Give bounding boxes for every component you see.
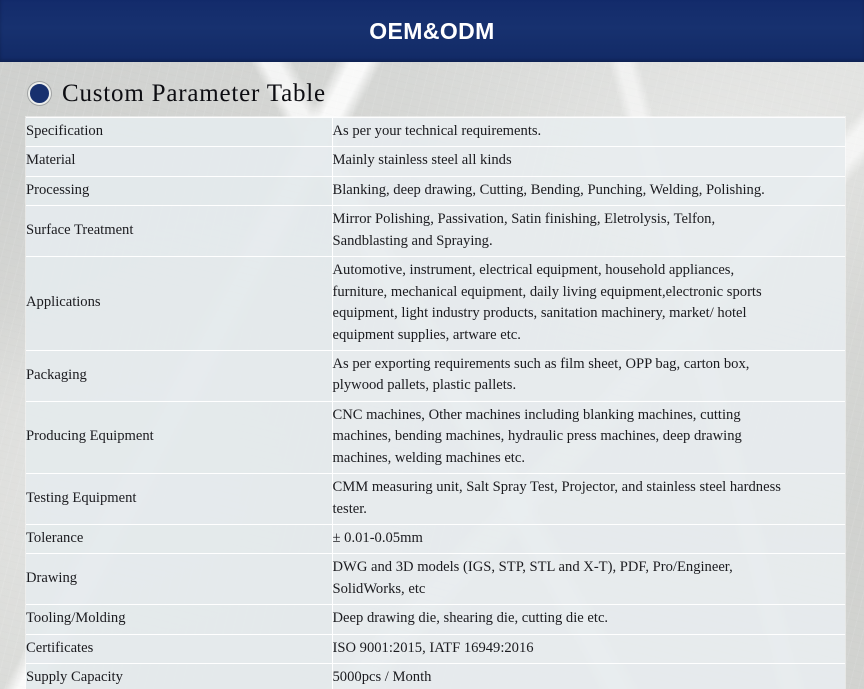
table-row: MaterialMainly stainless steel all kinds [26, 147, 845, 176]
parameter-label-cell: Tooling/Molding [26, 605, 332, 634]
parameter-value-line: CNC machines, Other machines including b… [333, 405, 846, 426]
parameter-value-line: SolidWorks, etc [333, 579, 846, 600]
table-row: Tolerance± 0.01-0.05mm [26, 525, 845, 554]
parameter-value-cell: Deep drawing die, shearing die, cutting … [332, 605, 845, 634]
parameter-value-line: As per your technical requirements. [333, 121, 846, 142]
table-row: Surface TreatmentMirror Polishing, Passi… [26, 206, 845, 257]
parameter-value-line: Sandblasting and Spraying. [333, 231, 846, 252]
table-row: PackagingAs per exporting requirements s… [26, 350, 845, 401]
parameter-label-cell: Specification [26, 118, 332, 147]
parameter-label-cell: Packaging [26, 350, 332, 401]
parameter-value-line: 5000pcs / Month [333, 667, 846, 688]
parameter-value-line: DWG and 3D models (IGS, STP, STL and X-T… [333, 557, 846, 578]
parameter-value-cell: Mainly stainless steel all kinds [332, 147, 845, 176]
parameter-value-line: ISO 9001:2015, IATF 16949:2016 [333, 638, 846, 659]
parameter-value-line: machines, bending machines, hydraulic pr… [333, 426, 846, 447]
parameter-value-line: Blanking, deep drawing, Cutting, Bending… [333, 180, 846, 201]
parameter-value-line: Deep drawing die, shearing die, cutting … [333, 608, 846, 629]
table-row: ProcessingBlanking, deep drawing, Cuttin… [26, 176, 845, 205]
parameter-value-cell: Mirror Polishing, Passivation, Satin fin… [332, 206, 845, 257]
parameter-value-line: Automotive, instrument, electrical equip… [333, 260, 846, 281]
table-row: Supply Capacity5000pcs / Month [26, 664, 845, 689]
page-root: OEM&ODM Custom Parameter Table Specifica… [0, 0, 864, 689]
parameter-value-cell: As per exporting requirements such as fi… [332, 350, 845, 401]
section-heading: Custom Parameter Table [28, 76, 326, 110]
page-title: OEM&ODM [369, 20, 494, 43]
parameter-label-cell: Producing Equipment [26, 401, 332, 473]
parameter-label-cell: Drawing [26, 554, 332, 605]
parameter-value-cell: CMM measuring unit, Salt Spray Test, Pro… [332, 474, 845, 525]
table-row: Testing EquipmentCMM measuring unit, Sal… [26, 474, 845, 525]
table-row: Producing EquipmentCNC machines, Other m… [26, 401, 845, 473]
section-title: Custom Parameter Table [62, 81, 326, 106]
parameter-label-cell: Supply Capacity [26, 664, 332, 689]
custom-parameter-table: SpecificationAs per your technical requi… [26, 118, 845, 689]
parameter-label-cell: Material [26, 147, 332, 176]
parameter-value-line: tester. [333, 499, 846, 520]
table-row: Tooling/MoldingDeep drawing die, shearin… [26, 605, 845, 634]
parameter-label-cell: Tolerance [26, 525, 332, 554]
parameter-value-line: equipment, light industry products, sani… [333, 303, 846, 324]
parameter-value-cell: ISO 9001:2015, IATF 16949:2016 [332, 634, 845, 663]
parameter-label-cell: Processing [26, 176, 332, 205]
page-header-banner: OEM&ODM [0, 0, 864, 62]
parameter-value-cell: ± 0.01-0.05mm [332, 525, 845, 554]
parameter-table-body: SpecificationAs per your technical requi… [26, 118, 845, 689]
table-row: ApplicationsAutomotive, instrument, elec… [26, 257, 845, 351]
parameter-value-line: Mirror Polishing, Passivation, Satin fin… [333, 209, 846, 230]
parameter-value-line: equipment supplies, artware etc. [333, 325, 846, 346]
parameter-label-cell: Applications [26, 257, 332, 351]
parameter-value-line: As per exporting requirements such as fi… [333, 354, 846, 375]
parameter-value-cell: Blanking, deep drawing, Cutting, Bending… [332, 176, 845, 205]
parameter-value-line: Mainly stainless steel all kinds [333, 150, 846, 171]
parameter-value-line: furniture, mechanical equipment, daily l… [333, 282, 846, 303]
filled-circle-bullet-icon [28, 82, 51, 105]
parameter-value-line: machines, welding machines etc. [333, 448, 846, 469]
parameter-value-cell: CNC machines, Other machines including b… [332, 401, 845, 473]
table-row: DrawingDWG and 3D models (IGS, STP, STL … [26, 554, 845, 605]
parameter-value-line: CMM measuring unit, Salt Spray Test, Pro… [333, 477, 846, 498]
table-row: Certificates ISO 9001:2015, IATF 16949:2… [26, 634, 845, 663]
parameter-value-cell: DWG and 3D models (IGS, STP, STL and X-T… [332, 554, 845, 605]
parameter-label-cell: Testing Equipment [26, 474, 332, 525]
parameter-table-container: SpecificationAs per your technical requi… [26, 117, 845, 689]
parameter-value-cell: As per your technical requirements. [332, 118, 845, 147]
parameter-value-cell: 5000pcs / Month [332, 664, 845, 689]
parameter-label-cell: Certificates [26, 634, 332, 663]
parameter-value-line: plywood pallets, plastic pallets. [333, 375, 846, 396]
table-row: SpecificationAs per your technical requi… [26, 118, 845, 147]
parameter-value-line: ± 0.01-0.05mm [333, 528, 846, 549]
parameter-value-cell: Automotive, instrument, electrical equip… [332, 257, 845, 351]
parameter-label-cell: Surface Treatment [26, 206, 332, 257]
